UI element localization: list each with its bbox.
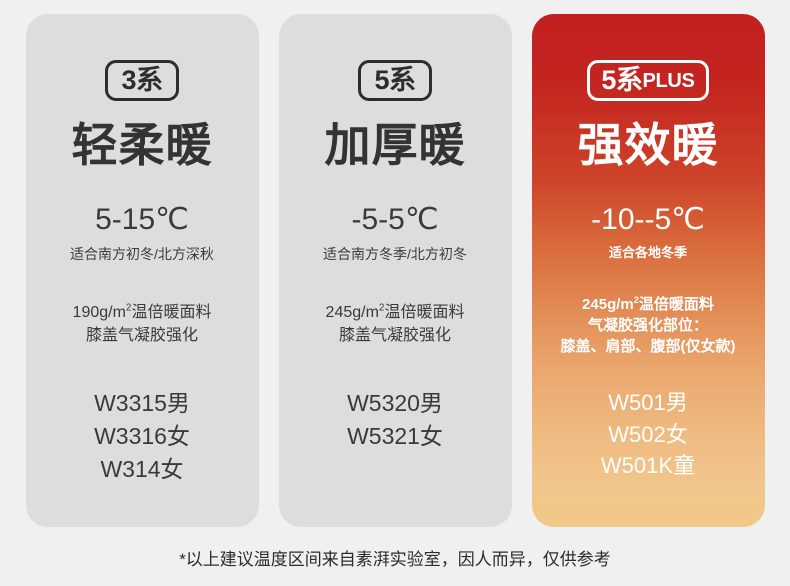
product-code[interactable]: W5321女 — [347, 420, 443, 453]
product-code[interactable]: W501K童 — [601, 450, 695, 481]
fabric-spec-line: 245g/m2温倍暖面料 — [561, 294, 736, 315]
fabric-spec-block: 245g/m2温倍暖面料膝盖气凝胶强化 — [326, 301, 465, 347]
product-code[interactable]: W5320男 — [347, 387, 443, 420]
fabric-spec-line: 190g/m2温倍暖面料 — [73, 301, 212, 324]
fabric-spec-line: 膝盖、肩部、腹部(仅女款) — [561, 336, 736, 357]
temperature-range: -10--5℃ — [591, 205, 705, 235]
product-code-list: W3315男W3316女W314女 — [94, 387, 190, 485]
fabric-spec-text: 245g/m — [582, 296, 634, 313]
temperature-usage-note: 适合南方初冬/北方深秋 — [70, 245, 214, 263]
series-card-list: 3系轻柔暖5-15℃适合南方初冬/北方深秋190g/m2温倍暖面料膝盖气凝胶强化… — [0, 0, 790, 530]
series-title: 强效暖 — [578, 121, 719, 171]
series-card-series-5[interactable]: 5系加厚暖-5-5℃适合南方冬季/北方初冬245g/m2温倍暖面料膝盖气凝胶强化… — [279, 14, 512, 527]
series-badge-sub-label: PLUS — [642, 71, 694, 91]
fabric-spec-text: 膝盖气凝胶强化 — [86, 327, 198, 344]
fabric-spec-block: 190g/m2温倍暖面料膝盖气凝胶强化 — [73, 301, 212, 347]
series-title: 加厚暖 — [325, 121, 466, 171]
product-code[interactable]: W3315男 — [94, 387, 190, 420]
fabric-spec-line: 气凝胶强化部位： — [561, 315, 736, 336]
series-badge: 3系 — [105, 60, 178, 101]
series-badge-main-label: 5系 — [601, 67, 642, 94]
fabric-spec-line: 245g/m2温倍暖面料 — [326, 301, 465, 324]
series-badge: 5系PLUS — [587, 60, 708, 101]
footnote-disclaimer: *以上建议温度区间来自素湃实验室，因人而异，仅供参考 — [0, 545, 790, 570]
fabric-spec-text: 气凝胶强化部位： — [588, 317, 708, 334]
temperature-usage-note: 适合南方冬季/北方初冬 — [323, 245, 467, 263]
fabric-spec-text: 245g/m — [326, 304, 379, 321]
product-code[interactable]: W314女 — [94, 453, 190, 486]
series-card-series-5-plus[interactable]: 5系PLUS强效暖-10--5℃适合各地冬季245g/m2温倍暖面料气凝胶强化部… — [532, 14, 765, 527]
series-badge-main-label: 3系 — [121, 67, 162, 94]
product-code[interactable]: W502女 — [601, 419, 695, 450]
fabric-spec-text-tail: 温倍暖面料 — [384, 304, 464, 321]
fabric-spec-text: 膝盖气凝胶强化 — [339, 327, 451, 344]
fabric-spec-text-tail: 温倍暖面料 — [131, 304, 211, 321]
series-badge-main-label: 5系 — [374, 67, 415, 94]
product-code[interactable]: W3316女 — [94, 420, 190, 453]
fabric-spec-text: 190g/m — [73, 304, 126, 321]
fabric-spec-text: 膝盖、肩部、腹部(仅女款) — [561, 338, 736, 355]
fabric-spec-text-tail: 温倍暖面料 — [639, 296, 714, 313]
series-title: 轻柔暖 — [72, 121, 213, 171]
series-card-series-3[interactable]: 3系轻柔暖5-15℃适合南方初冬/北方深秋190g/m2温倍暖面料膝盖气凝胶强化… — [26, 14, 259, 527]
fabric-spec-line: 膝盖气凝胶强化 — [73, 324, 212, 347]
fabric-spec-line: 膝盖气凝胶强化 — [326, 324, 465, 347]
product-code[interactable]: W501男 — [601, 387, 695, 418]
temperature-usage-note: 适合各地冬季 — [609, 245, 687, 262]
temperature-range: -5-5℃ — [351, 205, 438, 235]
series-badge: 5系 — [358, 60, 431, 101]
product-code-list: W5320男W5321女 — [347, 387, 443, 452]
comparison-panel: 3系轻柔暖5-15℃适合南方初冬/北方深秋190g/m2温倍暖面料膝盖气凝胶强化… — [0, 0, 790, 586]
fabric-spec-block: 245g/m2温倍暖面料气凝胶强化部位：膝盖、肩部、腹部(仅女款) — [561, 294, 736, 358]
product-code-list: W501男W502女W501K童 — [601, 387, 695, 481]
temperature-range: 5-15℃ — [95, 205, 189, 235]
